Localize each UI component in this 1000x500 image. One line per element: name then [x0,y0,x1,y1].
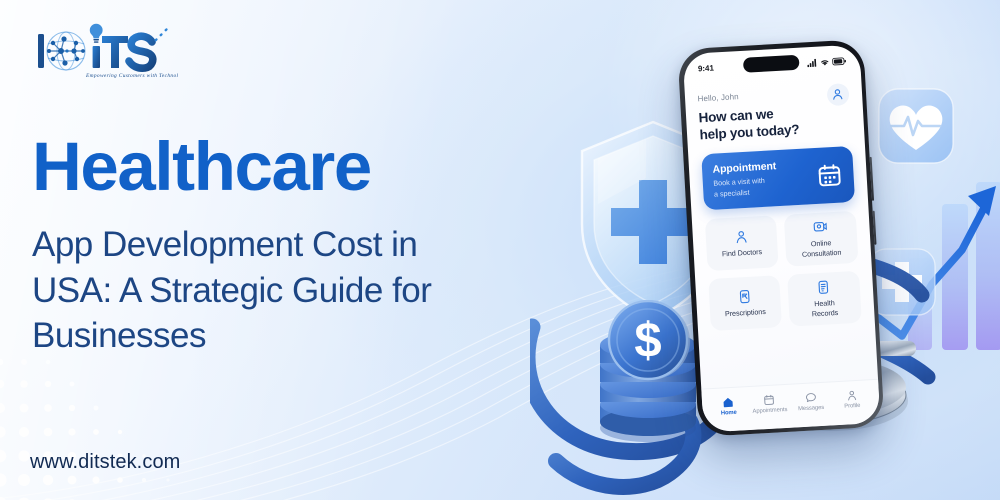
bottom-navigation-bar: Home Appointments [701,378,880,432]
appointment-card[interactable]: Appointment Book a visit with a speciali… [701,146,855,210]
website-url[interactable]: www.ditstek.com [30,451,180,474]
phone-notch [743,54,800,72]
tile-label: Health Records [811,298,838,318]
tab-label: Home [721,410,737,417]
tile-find-doctors[interactable]: Find Doctors [704,215,778,271]
tab-label: Appointments [752,407,787,415]
greeting-large: How can we help you today? [698,103,800,143]
phone-screen: 9:41 [682,44,880,432]
person-icon [845,389,858,402]
tile-health-records[interactable]: Health Records [787,271,861,327]
tab-appointments[interactable]: Appointments [748,393,790,416]
background-dot-pattern [0,344,240,500]
tile-online-consultation[interactable]: Online Consultation [784,211,858,267]
tab-home[interactable]: Home [707,395,749,418]
home-icon [722,396,735,409]
battery-icon [831,57,845,66]
subtitle-line-3: Businesses [32,313,431,359]
doctor-person-icon [733,229,749,245]
appointment-text: Appointment Book a visit with a speciali… [712,160,778,199]
status-time: 9:41 [698,63,714,73]
appointment-subtitle: Book a visit with a specialist [713,175,778,199]
phone-frame: 9:41 [677,39,884,437]
prescription-icon [737,289,753,305]
phone-app-content: Hello, John How can we help you today? [684,74,878,388]
calendar-icon [763,393,776,406]
chat-icon [804,391,817,404]
tile-prescriptions[interactable]: Prescriptions [708,275,782,331]
tile-label-line-2: Records [812,307,839,318]
company-logo[interactable]: Empowering Customers with Technology [28,22,178,84]
status-icon-group [807,57,846,67]
hero-illustration: $ 9:41 [520,0,1000,500]
cellular-signal-icon [807,58,817,67]
tab-label: Messages [798,405,824,412]
page-title: Healthcare [32,133,371,201]
greeting-row: Hello, John How can we help you today? [697,83,851,144]
subtitle-line-1: App Development Cost in [32,222,431,268]
appointment-title: Appointment [712,160,776,176]
tile-label: Prescriptions [725,307,766,318]
greeting-block: Hello, John How can we help you today? [697,85,800,143]
tile-label: Find Doctors [722,247,763,258]
smartphone-mockup: 9:41 [677,39,884,437]
tab-messages[interactable]: Messages [790,390,832,413]
tab-label: Profile [844,403,860,410]
calendar-icon [815,162,842,189]
banner-root: Empowering Customers with Technology Hea… [0,0,1000,500]
avatar[interactable] [826,83,849,106]
svg-text:$: $ [634,314,661,368]
subtitle-line-2: USA: A Strategic Guide for [32,268,431,314]
heart-with-pulse-icon [878,88,954,164]
health-records-icon [816,280,832,296]
page-subtitle: App Development Cost in USA: A Strategic… [32,222,431,359]
user-avatar-icon [831,87,845,101]
tile-label-line-2: Consultation [802,247,842,258]
wifi-icon [820,58,829,66]
greeting-small: Hello, John [697,85,797,103]
video-consult-icon [812,220,828,236]
tile-label: Online Consultation [801,238,841,259]
tab-profile[interactable]: Profile [831,388,873,411]
feature-tile-grid: Find Doctors Online Consu [704,211,861,331]
logo-tagline-text: Empowering Customers with Technology [85,73,178,79]
